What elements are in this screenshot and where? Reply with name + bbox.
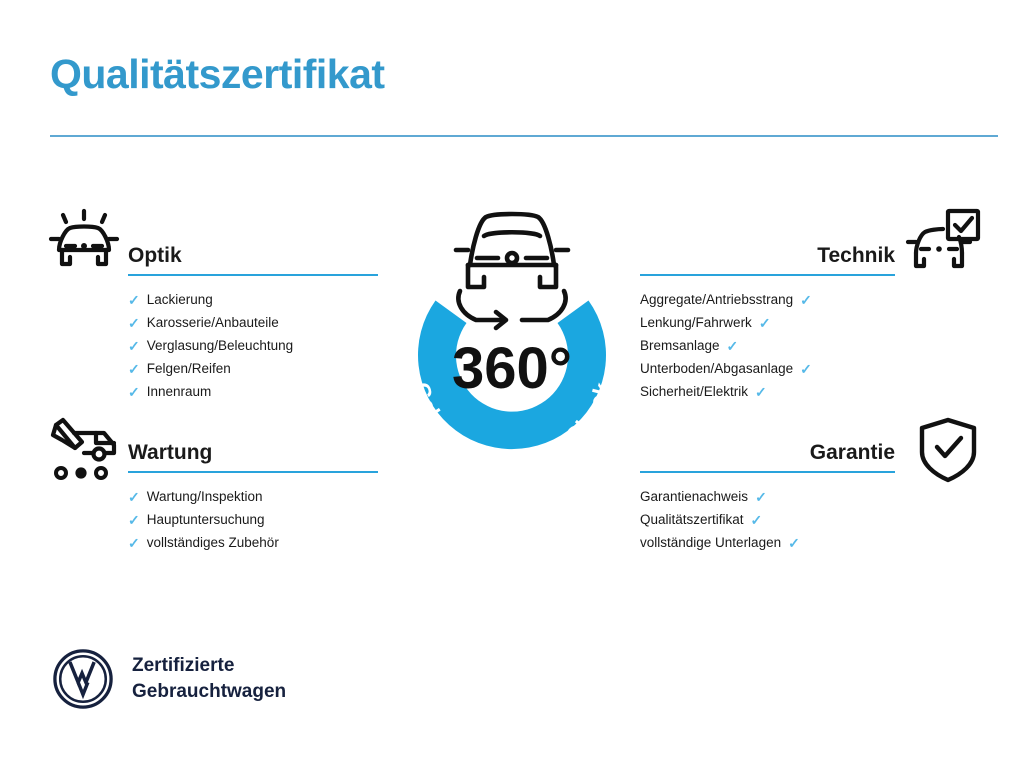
- check-icon: ✓: [755, 385, 767, 399]
- check-icon: ✓: [128, 362, 140, 376]
- section-garantie-header: Garantie: [640, 427, 895, 473]
- list-item: ✓ Garantienachweis: [640, 485, 895, 508]
- section-technik-divider: [640, 274, 895, 276]
- list-item: ✓ Wartung/Inspektion: [128, 485, 378, 508]
- check-icon: ✓: [128, 385, 140, 399]
- vw-text-line2: Gebrauchtwagen: [132, 679, 286, 705]
- badge-center-label: 360°: [452, 336, 572, 401]
- section-technik-list: ✓ Aggregate/Antriebsstrang ✓ Lenkung/Fah…: [640, 288, 895, 403]
- check-icon: ✓: [727, 339, 739, 353]
- shield-check-icon: [908, 414, 988, 486]
- section-technik-header: Technik: [640, 230, 895, 276]
- list-item-label: Innenraum: [147, 380, 212, 403]
- vw-certified-text: Zertifizierte Gebrauchtwagen: [132, 653, 286, 704]
- check-icon: ✓: [759, 316, 771, 330]
- check-icon: ✓: [128, 316, 140, 330]
- section-wartung-title: Wartung: [128, 441, 212, 465]
- list-item: ✓ Lackierung: [128, 288, 378, 311]
- section-garantie-title: Garantie: [810, 441, 895, 465]
- section-technik-title: Technik: [817, 244, 895, 268]
- section-garantie-list: ✓ Garantienachweis ✓ Qualitätszertifikat…: [640, 485, 895, 554]
- check-icon: ✓: [128, 339, 140, 353]
- list-item-label: vollständige Unterlagen: [640, 531, 781, 554]
- list-item-label: Garantienachweis: [640, 485, 748, 508]
- list-item-label: Lenkung/Fahrwerk: [640, 311, 752, 334]
- section-technik: Technik ✓ Aggregate/Antriebsstrang ✓ Len…: [640, 230, 895, 403]
- list-item: ✓ Qualitätszertifikat: [640, 508, 895, 531]
- section-optik-title: Optik: [128, 244, 182, 268]
- list-item: ✓ Aggregate/Antriebsstrang: [640, 288, 895, 311]
- check-icon: ✓: [128, 293, 140, 307]
- list-item: ✓ Felgen/Reifen: [128, 357, 378, 380]
- list-item: ✓ vollständiges Zubehör: [128, 531, 378, 554]
- list-item: ✓ Verglasung/Beleuchtung: [128, 334, 378, 357]
- list-item-label: Wartung/Inspektion: [147, 485, 263, 508]
- check-icon: ✓: [755, 490, 767, 504]
- section-optik-divider: [128, 274, 378, 276]
- 360-check-badge: 360° Gebrauchtwagen-Check: [372, 192, 652, 487]
- list-item: ✓ Innenraum: [128, 380, 378, 403]
- section-wartung-header: Wartung: [128, 427, 378, 473]
- section-garantie: Garantie ✓ Garantienachweis ✓ Qualitätsz…: [640, 427, 895, 554]
- list-item: ✓ Hauptuntersuchung: [128, 508, 378, 531]
- check-icon: ✓: [800, 362, 812, 376]
- vw-text-line1: Zertifizierte: [132, 653, 286, 679]
- page-title: Qualitätszertifikat: [50, 52, 385, 97]
- list-item-label: Karosserie/Anbauteile: [147, 311, 279, 334]
- section-wartung: Wartung ✓ Wartung/Inspektion ✓ Hauptunte…: [128, 427, 378, 554]
- list-item-label: Sicherheit/Elektrik: [640, 380, 748, 403]
- car-polish-icon: [44, 206, 124, 278]
- section-wartung-divider: [128, 471, 378, 473]
- list-item-label: Felgen/Reifen: [147, 357, 231, 380]
- check-icon: ✓: [128, 536, 140, 550]
- check-icon: ✓: [800, 293, 812, 307]
- list-item-label: vollständiges Zubehör: [147, 531, 279, 554]
- list-item: ✓ Lenkung/Fahrwerk: [640, 311, 895, 334]
- section-optik: Optik ✓ Lackierung ✓ Karosserie/Anbautei…: [128, 230, 378, 403]
- check-icon: ✓: [128, 513, 140, 527]
- section-garantie-divider: [640, 471, 895, 473]
- check-icon: ✓: [788, 536, 800, 550]
- pencil-car-service-icon: [44, 415, 124, 487]
- car-checkbox-icon: [903, 206, 983, 278]
- vw-certified-lockup: Zertifizierte Gebrauchtwagen: [52, 648, 286, 710]
- check-icon: ✓: [751, 513, 763, 527]
- section-optik-header: Optik: [128, 230, 378, 276]
- car-front-rotate-icon: [456, 214, 568, 328]
- list-item-label: Lackierung: [147, 288, 213, 311]
- list-item: ✓ Unterboden/Abgasanlage: [640, 357, 895, 380]
- list-item: ✓ vollständige Unterlagen: [640, 531, 895, 554]
- section-optik-list: ✓ Lackierung ✓ Karosserie/Anbauteile ✓ V…: [128, 288, 378, 403]
- list-item-label: Verglasung/Beleuchtung: [147, 334, 293, 357]
- list-item: ✓ Sicherheit/Elektrik: [640, 380, 895, 403]
- header-divider: [50, 135, 998, 137]
- list-item-label: Aggregate/Antriebsstrang: [640, 288, 793, 311]
- list-item-label: Qualitätszertifikat: [640, 508, 744, 531]
- volkswagen-logo: [52, 648, 114, 710]
- list-item-label: Unterboden/Abgasanlage: [640, 357, 793, 380]
- certificate-page: Qualitätszertifikat Optik: [0, 0, 1024, 768]
- list-item-label: Hauptuntersuchung: [147, 508, 265, 531]
- list-item: ✓ Karosserie/Anbauteile: [128, 311, 378, 334]
- section-wartung-list: ✓ Wartung/Inspektion ✓ Hauptuntersuchung…: [128, 485, 378, 554]
- check-icon: ✓: [128, 490, 140, 504]
- list-item: ✓ Bremsanlage: [640, 334, 895, 357]
